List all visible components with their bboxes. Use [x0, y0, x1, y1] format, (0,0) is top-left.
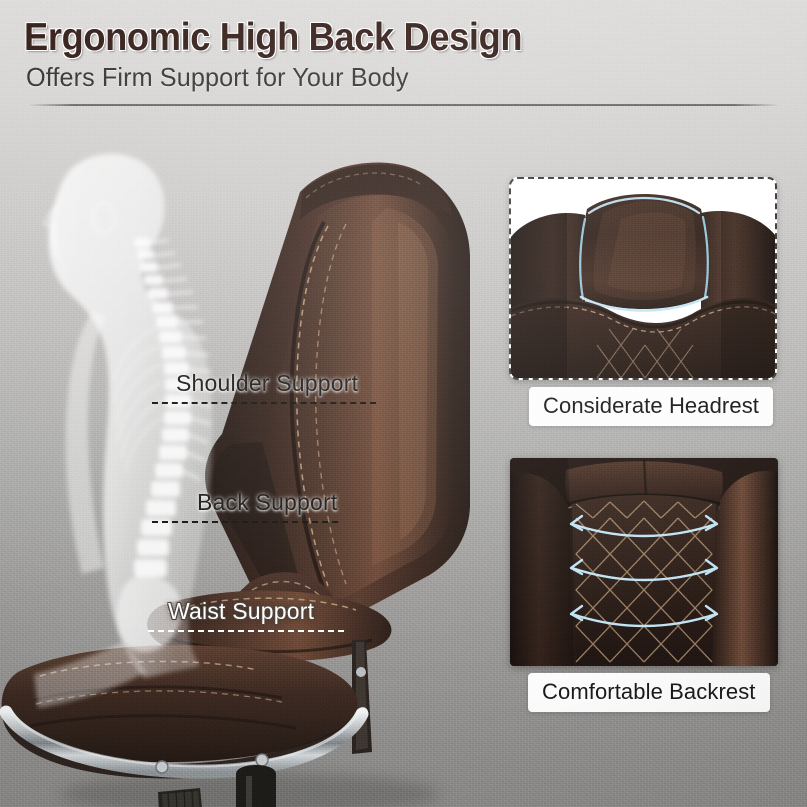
- backrest-caption: Comfortable Backrest: [528, 673, 770, 712]
- callout-shoulder-support-line: [152, 402, 376, 404]
- headrest-panel: [509, 177, 777, 380]
- headrest-photo: [511, 179, 775, 378]
- callout-back-support-label: Back Support: [197, 489, 337, 516]
- callout-waist-support-line: [148, 630, 344, 632]
- header-divider: [28, 104, 779, 106]
- header: Ergonomic High Back Design Offers Firm S…: [0, 0, 807, 108]
- page-title: Ergonomic High Back Design: [24, 16, 522, 60]
- callout-back-support-line: [152, 521, 338, 523]
- human-spine-figure: [0, 132, 234, 772]
- product-feature-graphic: Ergonomic High Back Design Offers Firm S…: [0, 0, 807, 807]
- backrest-panel: [510, 458, 778, 666]
- headrest-caption: Considerate Headrest: [529, 387, 773, 426]
- backrest-photo: [510, 458, 778, 666]
- callout-shoulder-support-label: Shoulder Support: [176, 370, 358, 397]
- backrest-right-bolster: [712, 471, 778, 666]
- page-subtitle: Offers Firm Support for Your Body: [26, 62, 409, 93]
- main-illustration: Shoulder Support Back Support Waist Supp…: [0, 112, 500, 807]
- callout-waist-support-label: Waist Support: [168, 598, 314, 625]
